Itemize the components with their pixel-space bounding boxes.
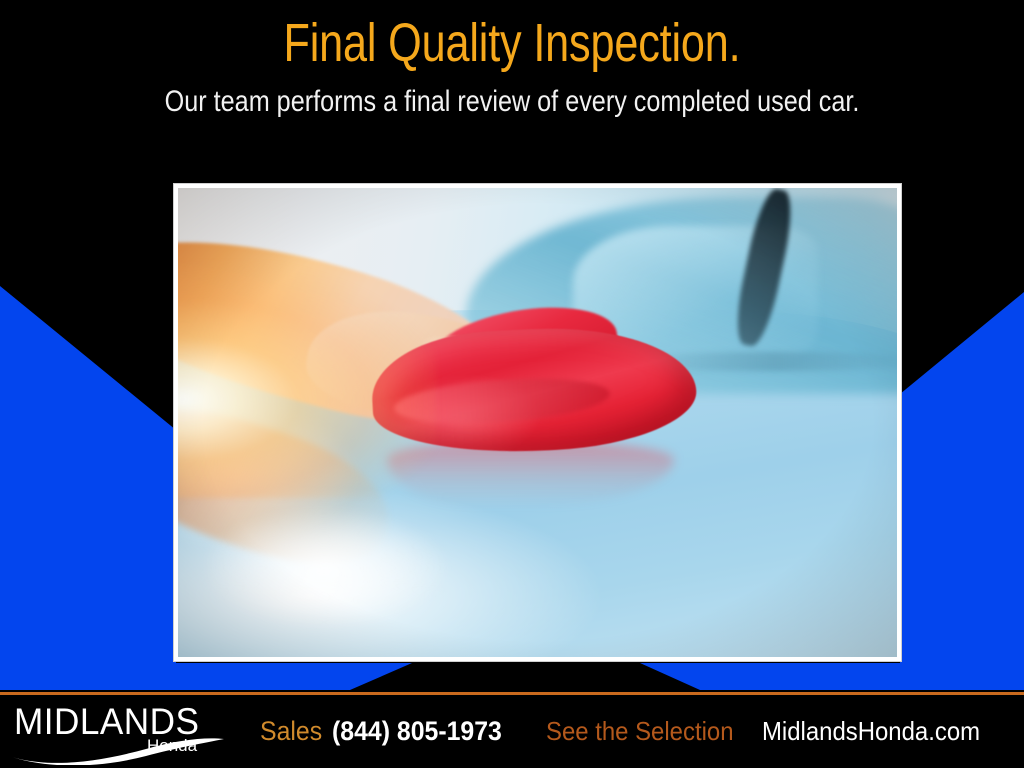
midlands-honda-logo[interactable]: MIDLANDS Honda (0, 695, 248, 768)
footer-bar: MIDLANDS Honda Sales (844) 805-1973 See … (0, 695, 1024, 768)
photo-frame (174, 184, 901, 661)
sales-phone-number[interactable]: (844) 805-1973 (332, 716, 502, 747)
footer-contact-group: Sales (844) 805-1973 See the Selection M… (248, 716, 1024, 747)
logo-swoosh-icon (6, 735, 230, 765)
page-subtitle: Our team performs a final review of ever… (82, 84, 942, 120)
photo-layer-vignette (178, 188, 897, 657)
header: Final Quality Inspection. Our team perfo… (0, 0, 1024, 160)
page-title: Final Quality Inspection. (102, 12, 921, 74)
photo-car-detailing (178, 188, 897, 657)
slide-canvas: Final Quality Inspection. Our team perfo… (0, 0, 1024, 768)
website-url[interactable]: MidlandsHonda.com (762, 716, 980, 747)
sales-label: Sales (260, 716, 322, 747)
see-the-selection-label: See the Selection (546, 716, 734, 747)
